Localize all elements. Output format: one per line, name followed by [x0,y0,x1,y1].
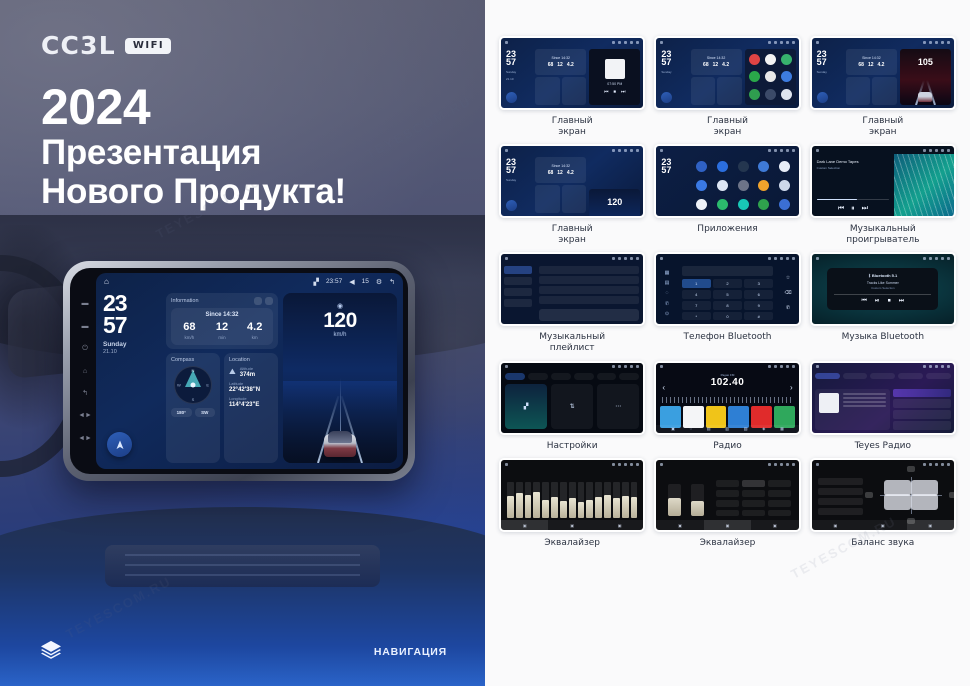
gear-icon[interactable]: ⚙ [376,278,382,286]
wifi-badge: WIFI [125,38,171,54]
thumbnail-home-road-red[interactable]: 2357Sunday Since 14:32 68124.2 105 [810,36,956,110]
preset-button[interactable] [768,500,791,507]
tab-sound-field[interactable]: ▣ [704,520,751,530]
gallery-item-settings[interactable]: ▞ ⇅ ⋯ Настройки [499,361,645,452]
thumbnail-teyes-radio[interactable] [810,361,956,435]
tab-favorites[interactable] [870,373,895,379]
app-icon[interactable] [749,54,760,65]
bluetooth-icon: ᛒ [868,273,870,278]
headline-line-2: Нового Продукта! [41,172,346,211]
tab-system[interactable] [619,373,639,380]
key-7[interactable]: 7 [682,301,711,310]
gallery-item-bt-music[interactable]: ᛒ Bluetooth 5.1 Tracks Like Summer Custo… [810,252,956,353]
slider-bass[interactable] [668,484,681,516]
brand-logo: CC3L WIFI [41,33,171,58]
gallery-row: Музыкальный плейлист ▦▤◌✆⊙ 1 2 [499,252,956,353]
wifi-icon: ▞ [524,403,529,410]
mini-speed: 105 [900,57,951,67]
equalizer-sliders[interactable] [507,482,637,518]
app-icon[interactable] [765,71,776,82]
key-3[interactable]: 3 [744,279,773,288]
eq-slider[interactable] [622,482,629,518]
preset-buttons[interactable] [716,480,790,516]
thumbnail-bluetooth-music[interactable]: ᛒ Bluetooth 5.1 Tracks Like Summer Custo… [810,252,956,326]
tab-equalizer[interactable]: ▣ [812,520,859,530]
gallery-panel: 2357Sunday21.10 Since 14:32 68124.2 07:5… [485,0,970,686]
prev-station-icon[interactable]: ‹ [662,383,665,392]
dialpad-icon[interactable]: ▦ [665,270,670,276]
mini-stat: 12 [868,62,874,68]
dialpad[interactable]: 1 2 3 4 5 6 7 8 9 * [682,279,774,320]
call-icon[interactable]: ✆ [786,305,790,311]
preset-button[interactable] [768,480,791,487]
navigation-label: НАВИГАЦИЯ [374,646,447,658]
gallery-item-apps[interactable]: 2357 [654,144,800,245]
fade-front-button[interactable] [907,466,915,472]
thumbnail-playlist[interactable] [499,252,645,326]
contacts-icon[interactable]: ▤ [665,280,670,286]
mini-media-widget: 07:50 PM ⏮⏹⏭ [589,49,640,105]
call-log-icon[interactable]: ✆ [665,301,669,307]
mini-app-shortcuts [745,49,796,105]
power-button[interactable]: ⏻ [82,345,88,352]
stat-speed: 68 km/h [173,322,206,340]
preset-button[interactable] [742,480,765,487]
tab-balance[interactable]: ▣ [751,520,798,530]
radio-toolbar[interactable]: ▣◌▤▥▧◈▦ [656,425,798,433]
tab-balance[interactable]: ▣ [907,520,954,530]
mini-stat: 68 [858,62,864,68]
preset-button[interactable] [742,490,765,497]
mini-since: Since 14:32 [552,56,571,60]
scan-icon[interactable]: ◌ [690,426,692,431]
key-2[interactable]: 2 [713,279,742,288]
apps-icon[interactable]: ▦ [780,426,784,431]
home-icon[interactable]: ⌂ [104,277,109,286]
mini-clock-minutes: 57 [506,166,532,174]
app-icon[interactable] [758,161,769,172]
traffic-icon: ⇅ [570,403,575,410]
app-icon[interactable] [749,89,760,100]
app-icon[interactable] [779,180,790,191]
settings-card-wifi[interactable]: ▞ [505,384,547,429]
key-0[interactable]: 0 [713,312,742,321]
key-star[interactable]: * [682,312,711,321]
next-icon[interactable]: ⏭ [621,89,626,95]
teyes-station-list[interactable] [893,389,951,430]
app-icon[interactable] [717,161,728,172]
thumbnail-radio[interactable]: Радио FM 102.40 ‹ › [654,361,800,435]
layers-icon[interactable] [40,640,62,665]
caption: Настройки [547,441,598,452]
caption: Главный экран [707,116,748,137]
thumbnail-equalizer[interactable]: ▣ ▣ ▣ [499,458,645,532]
search-icon[interactable]: ◌ [666,290,669,296]
gallery-item-home-apps[interactable]: 2357Sunday Since 14:32 68124.2 [654,36,800,137]
list-item[interactable] [893,399,951,408]
prev-icon[interactable]: ⏮ [838,205,844,213]
caption: Телефон Bluetooth [684,332,772,343]
app-icon[interactable] [781,71,792,82]
tab-equalizer[interactable]: ▣ [501,520,548,530]
hardware-button-rail[interactable]: ▬ ▬ ⏻ ⌂ ↰ ◄► ◄► [74,273,96,469]
thumbnail-apps[interactable]: 2357 [654,144,800,218]
bass-treble-sliders[interactable] [668,484,704,516]
thumbnail-equalizer-presets[interactable]: ▣ ▣ ▣ [654,458,800,532]
stat-duration: 12 min [206,322,239,340]
app-icon[interactable] [779,161,790,172]
gallery-item-player[interactable]: Dark Lane Demo Tapes Custom Selection ⏮ … [810,144,956,245]
vent-slat [125,564,360,566]
head-unit-bezel: ▬ ▬ ⏻ ⌂ ↰ ◄► ◄► ⌂ ▞ 23:57 [70,268,408,474]
stat-distance-unit: km [238,335,271,340]
headline-line-1: Презентация [41,133,346,172]
information-since: Since 14:32 [173,312,271,318]
key-9[interactable]: 9 [744,301,773,310]
eq-slider[interactable] [631,482,638,518]
prev-icon[interactable]: ⏮ [604,89,609,95]
compass-south: S [192,397,195,402]
app-icon[interactable] [696,199,707,210]
eq-slider[interactable] [560,482,567,518]
stop-icon[interactable]: ⏹ [888,298,891,305]
eq-slider[interactable] [507,482,514,518]
app-icon[interactable] [749,71,760,82]
thumbnail-home-apps[interactable]: 2357Sunday Since 14:32 68124.2 [654,36,800,110]
home-button[interactable]: ⌂ [83,368,87,375]
vol-up-button[interactable]: ▬ [82,323,89,330]
mini-stat: 12 [557,170,563,176]
caption: Эквалайзер [700,538,756,549]
stat-distance-value: 4.2 [238,322,271,333]
vol-down-button[interactable]: ▬ [82,300,89,307]
caption: Главный экран [552,224,593,245]
play-pause-icon[interactable]: ⏯ [875,298,880,305]
stat-distance: 4.2 km [238,322,271,340]
mini-navigation-panel: 105 [900,49,951,105]
stat-speed-unit: km/h [173,335,206,340]
tab-apps[interactable] [574,373,594,380]
mini-speed: 120 [589,197,640,207]
gallery-item-home-media[interactable]: 2357Sunday21.10 Since 14:32 68124.2 07:5… [499,36,645,137]
thumbnail-bluetooth-phone[interactable]: ▦▤◌✆⊙ 1 2 3 4 5 6 7 [654,252,800,326]
caption: Приложения [697,224,757,235]
clock-widget: 23 57 Sunday 21.10 [103,293,161,463]
navigation-arrow-icon[interactable] [107,432,132,457]
thumbnail-music-player[interactable]: Dark Lane Demo Tapes Custom Selection ⏮ … [810,144,956,218]
stop-icon[interactable]: ⏹ [614,89,617,95]
tab-sound[interactable] [528,373,548,380]
seat-rear-right [911,494,938,510]
head-unit-screen[interactable]: ⌂ ▞ 23:57 ◀ 15 ⚙ ↰ [96,273,403,469]
list-item[interactable] [893,421,951,430]
gallery-item-equalizer2[interactable]: ▣ ▣ ▣ Эквалайзер [654,458,800,549]
vent-slat [125,554,360,556]
app-icon[interactable] [758,199,769,210]
gallery-item-balance[interactable]: ▣ ▣ ▣ Баланс звука [810,458,956,549]
app-icon[interactable] [758,180,769,191]
wifi-icon[interactable]: ▞ [314,278,319,286]
eq-slider[interactable] [569,482,576,518]
loc-icon[interactable]: ◈ [762,426,765,431]
visualizer [894,154,954,216]
key-5[interactable]: 5 [713,290,742,299]
mini-clock-date: 21.10 [506,77,532,81]
speed-value: 120 [283,310,397,331]
gallery-item-phone[interactable]: ▦▤◌✆⊙ 1 2 3 4 5 6 7 [654,252,800,353]
information-widget[interactable]: Information Since 14:32 [166,293,278,349]
tab-sound-field[interactable]: ▣ [859,520,906,530]
preset-button[interactable] [716,480,739,487]
app-icon[interactable] [765,54,776,65]
longitude-label: Longitude [229,396,273,401]
preset-button[interactable] [742,510,765,517]
playlist-sidebar[interactable] [501,262,535,324]
teyes-tabs[interactable] [815,373,951,379]
back-button[interactable]: ↰ [82,390,88,397]
navigation-arrow-icon[interactable] [506,92,517,103]
backspace-icon[interactable]: ⌫ [784,290,791,296]
compass-direction: SW [195,408,216,417]
gallery-item-home-road-blue[interactable]: 2357Sunday Since 14:32 68124.2 120 [499,144,645,245]
preset-button[interactable] [716,510,739,517]
settings-icon[interactable]: ⊙ [665,311,669,317]
speed-unit: km/h [283,332,397,338]
app-icon[interactable] [781,54,792,65]
headline-year: 2024 [41,82,346,133]
app-icon[interactable] [696,180,707,191]
trip-settings-icon[interactable] [265,297,273,305]
eq-slider[interactable] [595,482,602,518]
eq-slider[interactable] [551,482,558,518]
compass-west: W [177,383,181,388]
eq-slider[interactable] [516,482,523,518]
reset-button[interactable]: ◄► [78,435,92,442]
list-item[interactable] [893,410,951,419]
app-drawer[interactable] [688,154,799,216]
balance-left-button[interactable] [865,492,873,498]
mini-stat: 68 [548,170,554,176]
brand-logo-text: CC3L [41,33,116,58]
tab-history[interactable] [898,373,923,379]
tab-sound-field[interactable]: ▣ [548,520,595,530]
volume-icon[interactable]: ◀ [349,278,354,286]
altitude-label: Altitude [240,366,255,371]
tab-wifi[interactable] [505,373,525,380]
car-interior-scene: ▬ ▬ ⏻ ⌂ ↰ ◄► ◄► ⌂ ▞ 23:57 [0,215,485,686]
app-icon[interactable] [717,199,728,210]
mini-clock-weekday: Sunday [817,70,843,74]
mini-clock-minutes: 57 [817,58,843,66]
eq-slider[interactable] [604,482,611,518]
thumbnail-home-road-blue[interactable]: 2357Sunday Since 14:32 68124.2 120 [499,144,645,218]
eq-slider[interactable] [578,482,585,518]
mini-since: Since 14:32 [707,56,726,60]
mini-stat: 4.2 [567,170,574,176]
key-4[interactable]: 4 [682,290,711,299]
eq-slider[interactable] [586,482,593,518]
mic-button[interactable]: ◄► [78,412,92,419]
app-icon[interactable] [738,199,749,210]
album-art [819,393,839,413]
settings-card-more[interactable]: ⋯ [597,384,639,429]
playlist-rows[interactable] [535,262,643,324]
gallery-item-equalizer[interactable]: ▣ ▣ ▣ Эквалайзер [499,458,645,549]
navigation-panel[interactable]: ◉ 120 km/h [283,293,397,463]
mini-stat: 12 [713,62,719,68]
app-icon[interactable] [781,89,792,100]
key-hash[interactable]: # [744,312,773,321]
latitude-label: Latitude [229,381,273,386]
prev-icon[interactable]: ⏮ [862,298,867,305]
now-playing-bar[interactable] [539,309,639,321]
key-6[interactable]: 6 [744,290,773,299]
caption: Teyes Радио [855,441,911,452]
settings-tabs[interactable] [505,373,639,380]
mini-clock-minutes: 57 [661,58,687,66]
next-icon[interactable]: ⏭ [899,298,904,305]
gallery-item-playlist[interactable]: Музыкальный плейлист [499,252,645,353]
preset-button[interactable] [742,500,765,507]
vent-slat [125,574,360,576]
more-icon: ⋯ [615,403,621,410]
mini-since: Since 14:32 [552,164,571,168]
compass-dial: N W E S [174,366,212,404]
key-8[interactable]: 8 [713,301,742,310]
mini-since: Since 14:32 [862,56,881,60]
eq-slider[interactable] [542,482,549,518]
balance-pad[interactable] [876,474,946,516]
seat-rear-left [884,494,911,510]
mini-stat: 4.2 [722,62,729,68]
gallery-item-home-road-red[interactable]: 2357Sunday Since 14:32 68124.2 105 [810,36,956,137]
thumbnail-settings[interactable]: ▞ ⇅ ⋯ [499,361,645,435]
balance-right-button[interactable] [949,492,956,498]
tab-live[interactable] [815,373,840,379]
bt-artist: Custom Selection [834,286,931,290]
app-icon[interactable] [738,180,749,191]
tab-stations[interactable] [843,373,868,379]
navigation-arrow-icon[interactable] [817,92,828,103]
mini-stat: 4.2 [878,62,885,68]
compass-needle [191,383,196,388]
tab-network[interactable] [597,373,617,380]
next-icon[interactable]: ⏭ [862,205,868,213]
gallery-item-teyes-radio[interactable]: Teyes Радио [810,361,956,452]
gallery-item-radio[interactable]: Радио FM 102.40 ‹ › [654,361,800,452]
preset-button[interactable] [768,490,791,497]
settings-card-traffic[interactable]: ⇅ [551,384,593,429]
head-unit-device: ▬ ▬ ⏻ ⌂ ↰ ◄► ◄► ⌂ ▞ 23:57 [63,261,415,481]
mini-stat: 68 [703,62,709,68]
eq-icon[interactable]: ▥ [725,426,729,431]
stat-speed-value: 68 [173,322,206,333]
mini-clock-weekday: Sunday [661,70,687,74]
compass-widget[interactable]: Compass N W E S [166,353,220,463]
back-arrow-icon[interactable]: ↰ [389,278,395,286]
list-icon[interactable]: ▤ [707,426,711,431]
longitude-value: 114°4'23"E [229,402,273,408]
media-time: 07:50 PM [607,82,622,86]
watermark: TEYESCOM.RU [363,93,474,161]
location-title: Location [229,357,273,363]
next-station-icon[interactable]: › [790,383,793,392]
location-widget[interactable]: Location ⛰ Altitude 374m [224,353,278,463]
left-footer: НАВИГАЦИЯ [0,624,485,686]
app-icon[interactable] [738,161,749,172]
rds-icon[interactable]: ▧ [744,426,748,431]
tuning-scale[interactable] [662,397,792,403]
mini-stat: 12 [557,62,563,68]
mini-clock-minutes: 57 [506,58,532,66]
gallery-row: ▞ ⇅ ⋯ Настройки Радио FM 102.40 [499,361,956,452]
pause-icon[interactable]: ⏸ [851,205,855,213]
app-icon[interactable] [696,161,707,172]
mini-clock-weekday: Sunday [506,70,532,74]
tab-settings[interactable] [926,373,951,379]
thumbnail-home-media[interactable]: 2357Sunday21.10 Since 14:32 68124.2 07:5… [499,36,645,110]
album-art [605,59,625,79]
compass-east: E [206,383,209,388]
left-hero-panel: CC3L WIFI 2024 Презентация Нового Продук… [0,0,485,686]
tab-equalizer[interactable]: ▣ [656,520,703,530]
gallery-row: ▣ ▣ ▣ Эквалайзер [499,458,956,549]
eq-slider[interactable] [613,482,620,518]
latitude-value: 22°42'38"N [229,387,273,393]
radio-frequency: 102.40 [656,377,798,388]
gallery-row: 2357Sunday Since 14:32 68124.2 120 [499,144,956,245]
track-title: Dark Lane Demo Tapes [817,159,890,164]
caption: Баланс звука [851,538,914,549]
dialed-number-display [682,266,774,276]
preset-button[interactable] [716,490,739,497]
teyes-now-playing [815,389,890,430]
compass-north: N [192,368,195,373]
caption: Главный экран [552,116,593,137]
progress-bar[interactable] [817,199,890,201]
eq-slider[interactable] [525,482,532,518]
bt-progress[interactable] [834,294,931,295]
bt-version: Bluetooth 5.1 [872,273,897,278]
preset-button[interactable] [716,500,739,507]
app-icon[interactable] [779,199,790,210]
tab-display[interactable] [551,373,571,380]
mini-clock-weekday: Sunday [506,178,532,182]
clock-weekday: Sunday [103,341,161,348]
trip-reset-icon[interactable] [254,297,262,305]
app-icon[interactable] [717,180,728,191]
screenshot-grid: 2357Sunday21.10 Since 14:32 68124.2 07:5… [499,36,956,549]
eq-slider[interactable] [533,482,540,518]
phone-sidebar[interactable]: ▦▤◌✆⊙ [656,262,677,324]
clock-minutes: 57 [103,315,161,337]
key-1[interactable]: 1 [682,279,711,288]
tab-balance[interactable]: ▣ [596,520,643,530]
slider-treble[interactable] [691,484,704,516]
bt-track: Tracks Like Summer [834,281,931,285]
balance-presets[interactable] [818,478,864,515]
mountain-icon: ⛰ [229,367,236,377]
favorite-icon[interactable]: ☆ [786,275,790,281]
app-icon[interactable] [765,89,776,100]
band-button[interactable]: ▣ [671,426,675,431]
vehicle-model [322,421,358,457]
list-item[interactable] [893,389,951,398]
caption: Музыка Bluetooth [842,332,925,343]
thumbnail-sound-balance[interactable]: ▣ ▣ ▣ [810,458,956,532]
status-bar: ⌂ ▞ 23:57 ◀ 15 ⚙ ↰ [96,273,403,290]
preset-button[interactable] [768,510,791,517]
